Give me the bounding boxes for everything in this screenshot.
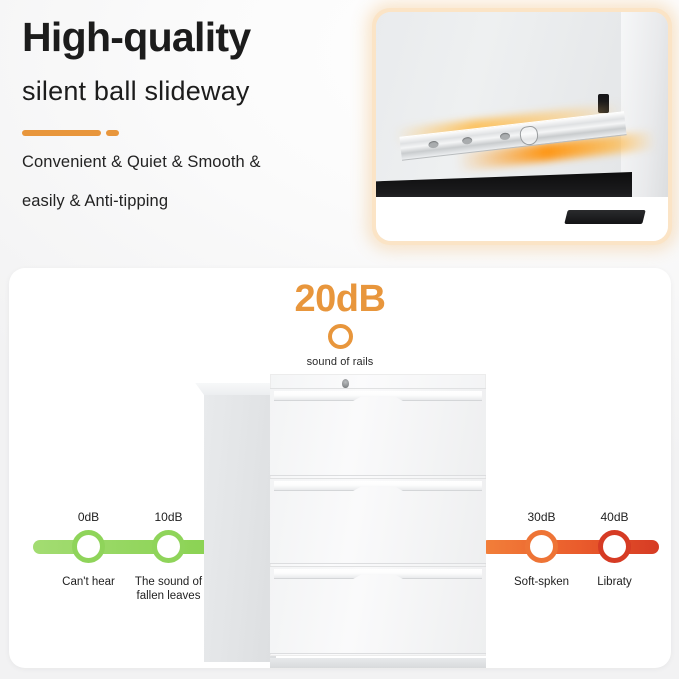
divider-short-dash xyxy=(106,130,119,136)
page-subtitle: silent ball slideway xyxy=(22,75,367,107)
scale-node-0db-label: Can't hear xyxy=(62,575,115,589)
cabinet-lock-icon xyxy=(342,379,349,388)
feature-line-1: Convenient & Quiet & Smooth & xyxy=(22,154,367,171)
scale-node-40db-value: 40dB xyxy=(600,510,628,524)
cabinet-side-panel xyxy=(204,383,276,662)
callout-ring-icon xyxy=(328,324,353,349)
divider-long-dash xyxy=(22,130,101,136)
scale-node-10db: 10dB The sound offallen leaves xyxy=(152,530,185,563)
cabinet-base-plinth xyxy=(270,658,486,668)
noise-scale-card: 20dB sound of rails 0dB Can't hear 10dB … xyxy=(9,268,671,668)
louder-scale-bar xyxy=(481,540,659,554)
scale-node-0db-value: 0dB xyxy=(78,510,99,524)
scale-node-40db: 40dB Libraty xyxy=(598,530,631,563)
photo-rail-hole-1 xyxy=(428,141,439,149)
photo-rail-hole-3 xyxy=(500,132,511,140)
quiet-scale: 0dB Can't hear 10dB The sound offallen l… xyxy=(33,516,233,616)
cabinet-top-bevel xyxy=(195,383,282,395)
rail-noise-callout: 20dB sound of rails xyxy=(9,280,671,368)
callout-value: 20dB xyxy=(9,280,671,318)
callout-label: sound of rails xyxy=(9,356,671,368)
header-text-block: High-quality silent ball slideway Conven… xyxy=(22,14,367,231)
scale-node-0db: 0dB Can't hear xyxy=(72,530,105,563)
photo-rail-hole-2 xyxy=(462,137,473,145)
scale-node-40db-label: Libraty xyxy=(597,575,632,589)
drawer-handle-3 xyxy=(274,569,482,579)
feature-list: Convenient & Quiet & Smooth & easily & A… xyxy=(22,154,367,209)
rail-closeup-photo xyxy=(376,12,668,241)
photo-cabinet-foot xyxy=(564,210,645,224)
cabinet-drawer-2 xyxy=(270,478,486,564)
cabinet-drawer-1 xyxy=(270,388,486,476)
scale-node-10db-label: The sound offallen leaves xyxy=(135,575,202,604)
scale-node-30db: 30dB Soft-spken xyxy=(525,530,558,563)
scale-node-30db-label: Soft-spken xyxy=(514,575,569,589)
cabinet-drawer-3 xyxy=(270,566,486,654)
louder-scale: 30dB Soft-spken 40dB Libraty xyxy=(473,516,659,616)
photo-rail-clip xyxy=(519,125,539,146)
accent-divider xyxy=(22,129,367,136)
page-title: High-quality xyxy=(22,14,367,61)
infographic-page: High-quality silent ball slideway Conven… xyxy=(0,0,679,679)
scale-node-10db-value: 10dB xyxy=(154,510,182,524)
drawer-handle-2 xyxy=(274,481,482,491)
filing-cabinet-image xyxy=(204,374,486,662)
drawer-handle-1 xyxy=(274,391,482,401)
rail-closeup-photo-frame xyxy=(372,8,672,245)
feature-line-2: easily & Anti-tipping xyxy=(22,193,367,210)
scale-node-30db-value: 30dB xyxy=(527,510,555,524)
